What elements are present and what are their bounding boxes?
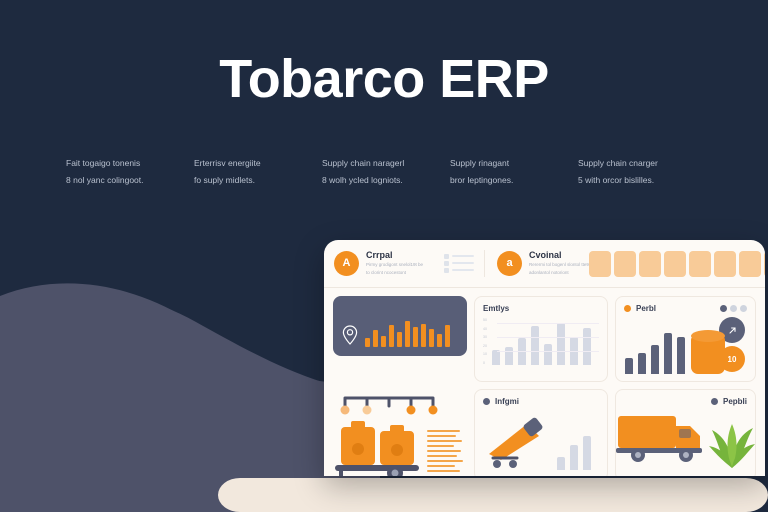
feature-columns: Fait togaigo tonenis 8 nol yanc colingoo…: [66, 155, 706, 188]
card-factory[interactable]: [333, 389, 467, 476]
dashboard-body: Emtlys 50 40 30 20 10 0: [324, 288, 765, 476]
card-title: Infgmi: [495, 397, 519, 406]
feature-column: Erterrisv energiite fo suply midlets.: [194, 155, 322, 188]
card-title: Emtlys: [483, 304, 509, 313]
list-item: [444, 268, 474, 273]
location-pin-icon: [342, 325, 358, 345]
legend-dot-icon: [740, 305, 747, 312]
bar: [437, 334, 442, 347]
feature-line-1: Supply rinagant: [450, 155, 564, 172]
bar: [405, 321, 410, 347]
bar-chart: [492, 319, 591, 365]
feature-line-1: Fait togaigo tonenis: [66, 155, 180, 172]
dashboard-row-top: Emtlys 50 40 30 20 10 0: [333, 296, 756, 382]
dashboard-row-bottom: Infgmi: [333, 389, 756, 476]
header-sub-2: adonlantol notoriont: [529, 269, 589, 277]
bar: [664, 333, 672, 374]
bar: [583, 328, 591, 365]
feature-line-1: Supply chain naragerl: [322, 155, 436, 172]
y-tick: 20: [483, 345, 487, 349]
y-axis: 50 40 30 20 10 0: [483, 319, 487, 365]
y-tick: 50: [483, 319, 487, 323]
bar: [531, 326, 539, 365]
dashboard-card: A Crrpal Pirmy grodigont snelol19t be to…: [324, 240, 765, 476]
swatch-item[interactable]: [589, 251, 611, 277]
legend-dot-icon: [720, 305, 727, 312]
pipe-dot: [429, 406, 438, 415]
feature-line-1: Supply chain cnarger: [578, 155, 692, 172]
feature-column: Fait togaigo tonenis 8 nol yanc colingoo…: [66, 155, 194, 188]
y-tick: 30: [483, 336, 487, 340]
feature-line-2: fo suply midlets.: [194, 172, 308, 189]
bar: [429, 329, 434, 347]
y-tick: 40: [483, 328, 487, 332]
truck-icon: [616, 416, 702, 462]
bar: [381, 336, 386, 347]
bar: [397, 332, 402, 347]
excavator-icon: [483, 414, 549, 470]
bar: [625, 358, 633, 374]
dashboard-header: A Crrpal Pirmy grodigont snelol19t be to…: [324, 240, 765, 288]
stack-lines: [428, 431, 462, 471]
bar: [492, 350, 500, 365]
barrel-icon: [380, 425, 414, 465]
header-group-primary[interactable]: A Crrpal Pirmy grodigont snelol19t be to…: [334, 250, 474, 277]
bar: [389, 325, 394, 347]
pipe-rack-icon: [341, 398, 438, 415]
bar: [505, 347, 513, 365]
hero-screen: Tobarco ERP Fait togaigo tonenis 8 nol y…: [0, 0, 768, 512]
bar: [365, 338, 370, 347]
bar-chart: [625, 330, 685, 374]
card-pepbli[interactable]: Pepbli: [615, 389, 756, 476]
feature-line-2: bror leptingones.: [450, 172, 564, 189]
header-checklist: [444, 254, 474, 273]
header-title: Crrpal: [366, 250, 423, 261]
status-dot-icon: [483, 398, 490, 405]
card-emtlys[interactable]: Emtlys 50 40 30 20 10 0: [474, 296, 608, 382]
y-tick: 0: [483, 362, 487, 366]
placeholder-line: [452, 262, 474, 264]
map-activity-panel[interactable]: [333, 296, 467, 356]
header-sub-1: Rerermi tol bogenl slontol tte9: [529, 261, 589, 269]
bar: [583, 436, 591, 470]
bar: [557, 457, 565, 470]
status-dot-icon: [624, 305, 631, 312]
feature-column: Supply rinagant bror leptingones.: [450, 155, 578, 188]
pipe-dot: [363, 406, 372, 415]
bar-chart: [557, 426, 591, 470]
factory-illustration: [333, 389, 467, 476]
bar: [570, 445, 578, 470]
pipe-dot: [341, 406, 350, 415]
arrow-up-right-icon: [727, 325, 738, 336]
swatch-item[interactable]: [639, 251, 661, 277]
card-title: Perbl: [636, 304, 656, 313]
feature-column: Supply chain cnarger 5 with orcor bislil…: [578, 155, 706, 188]
legend-dot-icon: [730, 305, 737, 312]
bar: [373, 330, 378, 347]
bar: [651, 345, 659, 374]
bar: [544, 344, 552, 365]
logistics-illustration: [616, 402, 756, 474]
card-perbl[interactable]: Perbl: [615, 296, 756, 382]
header-sub-2: to clorint ncocestont: [366, 269, 423, 277]
feature-column: Supply chain naragerl 8 wolh ycled logni…: [322, 155, 450, 188]
swatch-item[interactable]: [614, 251, 636, 277]
swatch-item[interactable]: [714, 251, 736, 277]
checkbox-icon[interactable]: [444, 268, 449, 273]
header-group-secondary[interactable]: a Cvoinal Rerermi tol bogenl slontol tte…: [484, 250, 589, 277]
bar: [413, 327, 418, 347]
checkbox-icon[interactable]: [444, 254, 449, 259]
swatch-item[interactable]: [689, 251, 711, 277]
y-tick: 10: [483, 353, 487, 357]
avatar: A: [334, 251, 359, 276]
avatar: a: [497, 251, 522, 276]
swatch-strip: [589, 251, 765, 277]
feature-line-2: 5 with orcor bislilles.: [578, 172, 692, 189]
feature-line-2: 8 nol yanc colingoot.: [66, 172, 180, 189]
barrel-icon: [341, 421, 375, 465]
swatch-item[interactable]: [764, 251, 765, 277]
header-title: Cvoinal: [529, 250, 589, 261]
list-item: [444, 254, 474, 259]
tobacco-leaf-icon: [709, 424, 755, 468]
bar: [557, 323, 565, 365]
page-title: Tobarco ERP: [0, 48, 768, 110]
bar: [445, 325, 450, 347]
swatch-item[interactable]: [664, 251, 686, 277]
bar: [421, 324, 426, 347]
bar: [638, 353, 646, 374]
storage-cylinder-icon: [691, 330, 725, 374]
feature-line-1: Erterrisv energiite: [194, 155, 308, 172]
card-infgmi[interactable]: Infgmi: [474, 389, 608, 476]
feature-line-2: 8 wolh ycled logniots.: [322, 172, 436, 189]
bar: [677, 337, 685, 374]
placeholder-line: [452, 269, 474, 271]
pipe-dot: [407, 406, 416, 415]
cart-icon: [335, 465, 419, 476]
placeholder-line: [452, 255, 474, 257]
checkbox-icon[interactable]: [444, 261, 449, 266]
swatch-item[interactable]: [739, 251, 761, 277]
cream-panel: [218, 478, 768, 512]
list-item: [444, 261, 474, 266]
header-sub-1: Pirmy grodigont snelol19t be: [366, 261, 423, 269]
